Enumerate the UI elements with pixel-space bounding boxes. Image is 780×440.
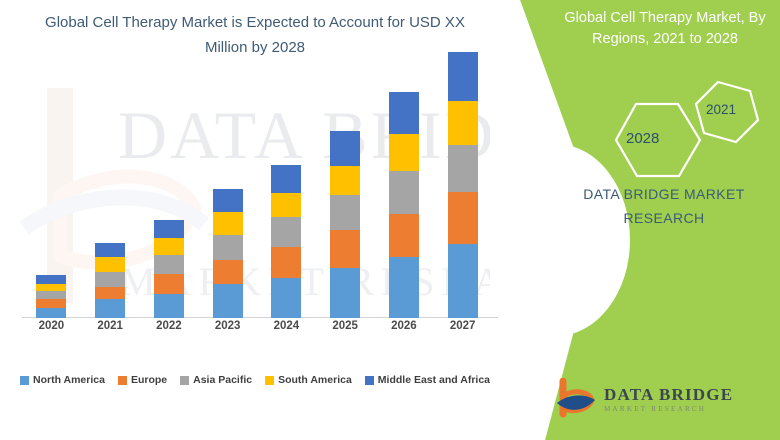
legend-item[interactable]: Asia Pacific	[180, 374, 252, 386]
legend-swatch-icon	[265, 376, 274, 385]
bar-segment[interactable]	[154, 220, 184, 238]
page-title: Global Cell Therapy Market is Expected t…	[40, 10, 470, 60]
x-axis-label: 2024	[263, 320, 309, 340]
legend-swatch-icon	[180, 376, 189, 385]
stacked-bar[interactable]	[448, 52, 478, 318]
bar-column-2027[interactable]	[440, 60, 486, 318]
x-axis-label: 2027	[440, 320, 486, 340]
bar-segment[interactable]	[213, 189, 243, 212]
bar-segment[interactable]	[95, 272, 125, 287]
legend-item[interactable]: Europe	[118, 374, 167, 386]
bar-column-2023[interactable]	[205, 60, 251, 318]
legend-label: Asia Pacific	[193, 374, 252, 386]
stacked-bar[interactable]	[330, 131, 360, 318]
bar-segment[interactable]	[36, 299, 66, 308]
legend-label: North America	[33, 374, 105, 386]
bar-segment[interactable]	[213, 284, 243, 318]
bar-segment[interactable]	[154, 238, 184, 255]
logo-subtitle: MARKET RESEARCH	[604, 406, 733, 413]
x-axis-label: 2023	[205, 320, 251, 340]
bar-segment[interactable]	[36, 308, 66, 318]
bar-segment[interactable]	[271, 165, 301, 193]
panel-brand-line: DATA BRIDGE MARKET RESEARCH	[548, 182, 780, 230]
bar-segment[interactable]	[389, 257, 419, 318]
legend-item[interactable]: North America	[20, 374, 105, 386]
bar-segment[interactable]	[271, 278, 301, 318]
data-bridge-b-logo-icon	[556, 378, 596, 420]
bar-column-2020[interactable]	[28, 60, 74, 318]
hexagon-badge-group-icon	[588, 78, 778, 180]
bar-segment[interactable]	[389, 214, 419, 258]
legend-label: South America	[278, 374, 352, 386]
bar-segment[interactable]	[448, 145, 478, 191]
bar-column-2022[interactable]	[146, 60, 192, 318]
bar-segment[interactable]	[154, 255, 184, 274]
infographic-canvas: DATA BRIDGE MARKET RESEARCH Global Cell …	[0, 0, 780, 440]
bar-segment[interactable]	[448, 192, 478, 245]
x-axis-label: 2020	[28, 320, 74, 340]
bar-segment[interactable]	[330, 268, 360, 318]
stacked-bar[interactable]	[389, 92, 419, 318]
bar-column-2024[interactable]	[263, 60, 309, 318]
bar-segment[interactable]	[95, 257, 125, 271]
stacked-bar[interactable]	[213, 189, 243, 318]
bar-segment[interactable]	[154, 294, 184, 319]
legend-swatch-icon	[20, 376, 29, 385]
bar-column-2026[interactable]	[381, 60, 427, 318]
stacked-bar[interactable]	[271, 165, 301, 318]
bar-segment[interactable]	[389, 92, 419, 133]
brand-logo: DATA BRIDGE MARKET RESEARCH	[556, 378, 733, 420]
bar-segment[interactable]	[448, 244, 478, 318]
x-axis-label: 2026	[381, 320, 427, 340]
bar-segment[interactable]	[448, 101, 478, 145]
bar-segment[interactable]	[213, 235, 243, 260]
bar-segment[interactable]	[36, 284, 66, 292]
legend-label: Middle East and Africa	[378, 374, 490, 386]
bar-segment[interactable]	[271, 247, 301, 278]
bar-column-2025[interactable]	[322, 60, 368, 318]
bar-segment[interactable]	[448, 52, 478, 101]
legend-swatch-icon	[365, 376, 374, 385]
chart-legend: North AmericaEuropeAsia PacificSouth Ame…	[0, 374, 510, 386]
stacked-bar[interactable]	[36, 275, 66, 318]
chart-plot-area	[22, 60, 492, 318]
x-axis-labels: 20202021202220232024202520262027	[22, 320, 492, 340]
bar-segment[interactable]	[95, 287, 125, 300]
bar-segment[interactable]	[36, 291, 66, 299]
bar-segment[interactable]	[330, 166, 360, 196]
bar-segment[interactable]	[95, 299, 125, 318]
bar-segment[interactable]	[213, 260, 243, 285]
stacked-bar[interactable]	[154, 220, 184, 318]
hex-label-2028: 2028	[626, 130, 659, 147]
bar-segment[interactable]	[36, 275, 66, 283]
bar-column-2021[interactable]	[87, 60, 133, 318]
bar-segment[interactable]	[330, 230, 360, 267]
stacked-bar[interactable]	[95, 243, 125, 318]
bar-segment[interactable]	[154, 274, 184, 293]
bar-segment[interactable]	[95, 243, 125, 257]
bar-segment[interactable]	[330, 131, 360, 166]
bar-segment[interactable]	[213, 212, 243, 235]
legend-item[interactable]: South America	[265, 374, 352, 386]
legend-item[interactable]: Middle East and Africa	[365, 374, 490, 386]
bar-segment[interactable]	[271, 217, 301, 247]
x-axis-label: 2025	[322, 320, 368, 340]
hex-label-2021: 2021	[706, 102, 736, 117]
legend-swatch-icon	[118, 376, 127, 385]
panel-title: Global Cell Therapy Market, By Regions, …	[552, 8, 778, 50]
bar-segment[interactable]	[389, 171, 419, 214]
legend-label: Europe	[131, 374, 167, 386]
x-axis-label: 2022	[146, 320, 192, 340]
bar-segment[interactable]	[271, 193, 301, 218]
bar-segment[interactable]	[389, 134, 419, 171]
x-axis-label: 2021	[87, 320, 133, 340]
logo-text-block: DATA BRIDGE MARKET RESEARCH	[604, 386, 733, 413]
bar-segment[interactable]	[330, 195, 360, 230]
logo-name: DATA BRIDGE	[604, 386, 733, 403]
hexagon-badges: 2028 2021	[588, 78, 778, 180]
stacked-bar-chart: 20202021202220232024202520262027	[0, 60, 510, 340]
